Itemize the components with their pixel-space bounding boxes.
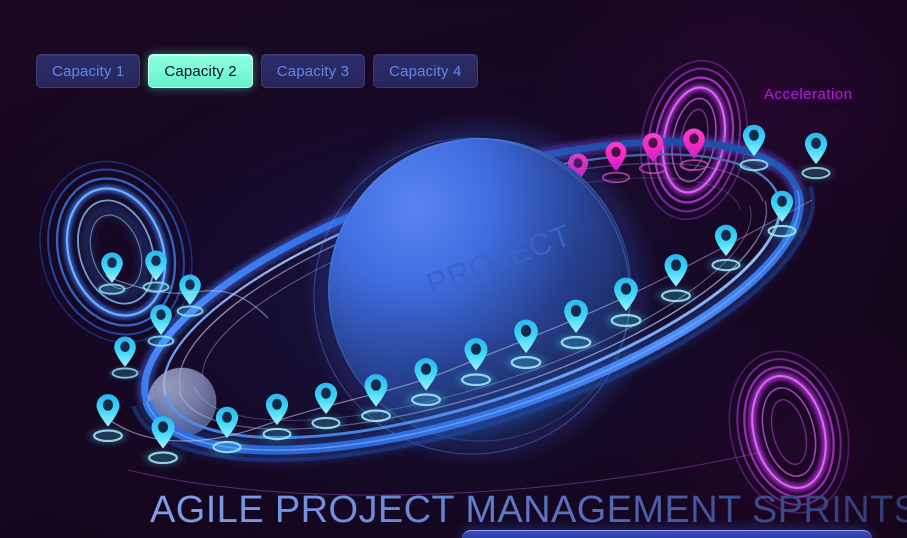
sprint-pin bbox=[307, 383, 345, 431]
tab-label: Capacity 3 bbox=[277, 63, 349, 80]
moon bbox=[148, 368, 216, 436]
page-title: AGILE PROJECT MANAGEMENT SPRINTS bbox=[150, 489, 907, 532]
sprint-pin bbox=[145, 305, 177, 348]
sprint-pin bbox=[506, 320, 547, 371]
sprint-connector-line bbox=[104, 200, 812, 441]
planet-rings-front bbox=[94, 64, 850, 527]
sprint-pin bbox=[603, 142, 629, 182]
planet-atmosphere-arc bbox=[314, 138, 630, 454]
tab-capacity-3[interactable]: Capacity 3 bbox=[261, 54, 365, 88]
sprint-pin bbox=[356, 374, 396, 424]
sprint-pin bbox=[452, 187, 476, 224]
sprint-pin bbox=[527, 161, 552, 199]
sprint-pin bbox=[798, 133, 834, 180]
sprint-pin bbox=[88, 394, 128, 444]
sprint-pin bbox=[415, 200, 439, 236]
sprint-pin bbox=[565, 154, 591, 193]
vortex-blue-left bbox=[17, 142, 215, 363]
project-planet bbox=[302, 112, 658, 468]
tab-capacity-1[interactable]: Capacity 1 bbox=[36, 54, 140, 88]
vortex-magenta-top bbox=[629, 52, 759, 228]
sprint-pin bbox=[258, 394, 296, 442]
capacity-tabs: Capacity 1 Capacity 2 Capacity 3 Capacit… bbox=[36, 54, 478, 88]
planet-label: PROJECT bbox=[422, 217, 577, 303]
sprint-pins-back-arc bbox=[96, 129, 708, 380]
sprint-pin bbox=[606, 278, 647, 329]
bottom-drawer[interactable] bbox=[462, 530, 872, 538]
sprint-pin bbox=[556, 300, 597, 351]
sprint-pin bbox=[736, 125, 772, 172]
tab-label: Capacity 4 bbox=[389, 63, 461, 80]
sprint-pin bbox=[707, 225, 745, 273]
sprint-pin bbox=[208, 407, 246, 455]
scene-canvas: PROJECT Capacity 1 Capacity 2 Capacity 3… bbox=[0, 0, 907, 538]
tab-capacity-2[interactable]: Capacity 2 bbox=[148, 54, 252, 88]
sprint-pin bbox=[96, 253, 128, 296]
sprint-pin bbox=[143, 416, 183, 466]
sprint-pin bbox=[456, 338, 496, 388]
sprint-pin bbox=[109, 337, 141, 380]
sprint-pin bbox=[680, 129, 707, 171]
acceleration-label: Acceleration bbox=[764, 86, 853, 103]
sprint-pin bbox=[140, 251, 172, 294]
sprint-pins-front-arc bbox=[88, 125, 834, 466]
planet-rings-back bbox=[110, 78, 833, 514]
tab-capacity-4[interactable]: Capacity 4 bbox=[373, 54, 477, 88]
tab-label: Capacity 1 bbox=[52, 63, 124, 80]
sprint-pin bbox=[406, 358, 446, 408]
tab-label: Capacity 2 bbox=[164, 63, 236, 80]
sprint-pin bbox=[656, 254, 696, 304]
sprint-pin bbox=[640, 133, 666, 173]
sprint-pin bbox=[763, 191, 801, 239]
sprint-pin bbox=[174, 275, 206, 318]
sprint-pin bbox=[490, 173, 515, 211]
sprint-connector-line-upper bbox=[106, 276, 268, 318]
